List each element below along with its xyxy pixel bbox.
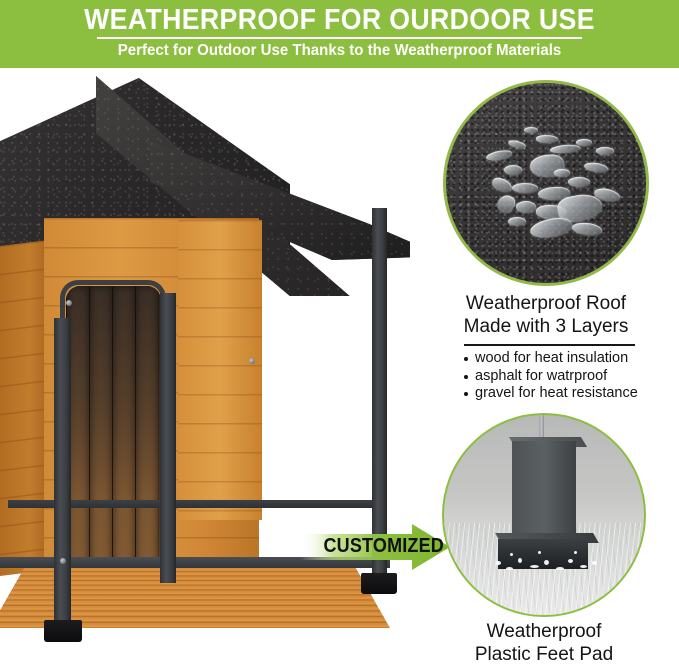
detail-1-caption-line-2: Made with 3 Layers	[446, 315, 646, 338]
water-droplet	[486, 149, 513, 162]
support-post-door-right	[160, 293, 176, 583]
water-droplet	[490, 176, 513, 195]
water-splash	[580, 565, 587, 568]
water-droplet	[568, 177, 590, 187]
water-droplet	[524, 127, 538, 133]
water-droplet	[495, 192, 518, 216]
water-droplet	[508, 217, 526, 226]
detail-1-caption-line-1: Weatherproof Roof	[446, 292, 646, 315]
customized-badge-label: CUSTOMIZED	[324, 532, 423, 560]
detail-1-bullet-list: wood for heat insulation asphalt for wat…	[462, 350, 672, 403]
water-droplet	[504, 165, 522, 175]
title-underline	[97, 37, 582, 39]
support-post	[512, 441, 576, 545]
plastic-foot-pad-front-left	[44, 620, 82, 642]
water-droplet	[583, 161, 608, 173]
water-droplet	[550, 144, 581, 155]
water-droplet	[516, 201, 536, 213]
roof-gravel-water-beading-photo	[443, 80, 649, 286]
water-splash	[510, 553, 513, 556]
detail-2-caption-line-1: Weatherproof	[444, 620, 644, 643]
water-droplet	[576, 139, 592, 146]
water-splash	[496, 561, 501, 565]
weatherproof-feature-infographic: WEATHERPROOF FOR OURDOOR USE Perfect for…	[0, 0, 679, 670]
water-droplet	[512, 183, 538, 193]
water-splash	[518, 558, 522, 563]
page-title: WEATHERPROOF FOR OURDOOR USE	[27, 4, 652, 36]
water-droplet	[554, 169, 570, 177]
water-splash	[574, 551, 577, 554]
support-post-front-left	[54, 318, 71, 628]
product-photo-dog-house	[0, 68, 440, 670]
page-subtitle: Perfect for Outdoor Use Thanks to the We…	[20, 41, 658, 61]
wood-wall-front-right	[178, 220, 262, 520]
water-splash	[556, 567, 564, 570]
list-item: wood for heat insulation	[462, 350, 672, 367]
water-splash	[538, 551, 541, 554]
list-item: asphalt for watrproof	[462, 368, 672, 385]
detail-2-caption: Weatherproof Plastic Feet Pad	[444, 620, 644, 666]
detail-1-divider	[464, 344, 635, 346]
detail-2-caption-line-2: Plastic Feet Pad	[444, 643, 644, 666]
water-splash	[506, 567, 513, 570]
plastic-foot-pad-right	[361, 573, 397, 594]
header-banner: WEATHERPROOF FOR OURDOOR USE Perfect for…	[0, 0, 679, 68]
water-splash	[568, 559, 573, 563]
screw-icon	[66, 300, 72, 306]
detail-1-caption: Weatherproof Roof Made with 3 Layers	[446, 292, 646, 338]
plastic-feet-pad-on-wet-ground-photo	[442, 413, 646, 617]
screw-icon	[60, 558, 66, 564]
water-droplet	[507, 139, 526, 150]
water-splash	[544, 560, 549, 565]
water-splash	[530, 565, 539, 568]
water-droplet	[529, 215, 574, 241]
door-frame	[60, 280, 166, 578]
screw-icon	[249, 358, 255, 364]
water-droplet	[596, 147, 614, 155]
water-droplet	[536, 135, 558, 143]
water-droplet	[571, 221, 602, 236]
list-item: gravel for heat resistance	[462, 385, 672, 402]
water-splash	[592, 561, 597, 565]
